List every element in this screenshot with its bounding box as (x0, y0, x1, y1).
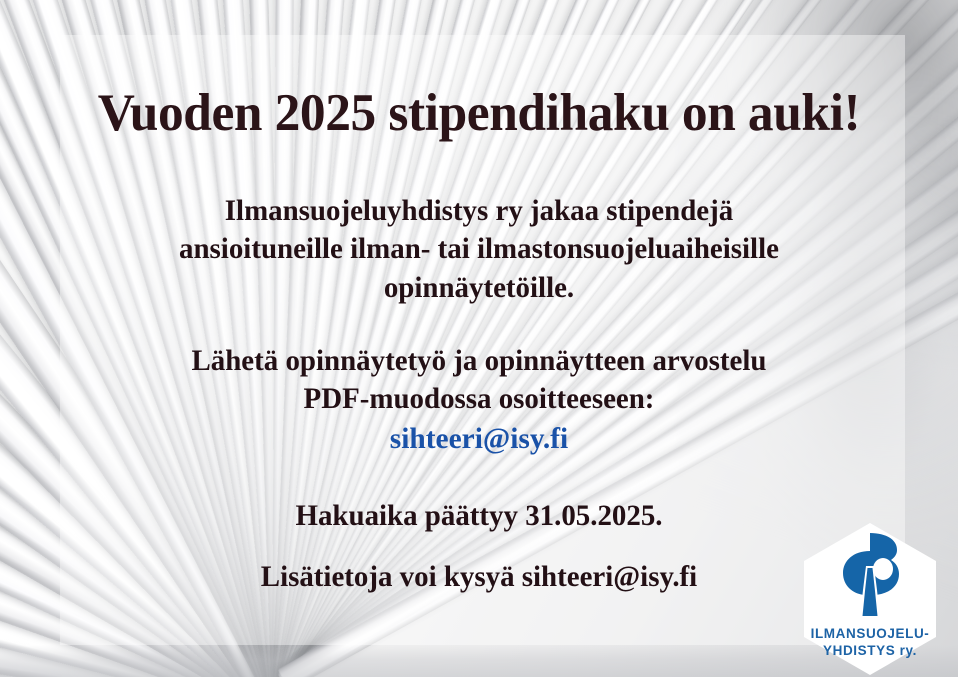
page-title: Vuoden 2025 stipendihaku on auki! (14, 86, 943, 142)
submission-paragraph: Lähetä opinnäytetyö ja opinnäytteen arvo… (10, 342, 949, 458)
submission-email-link[interactable]: sihteeri@isy.fi (10, 419, 949, 458)
logo-text-line-2: YHDISTYS ry. (823, 643, 917, 658)
submission-line-2: PDF-muodossa osoitteeseen: (10, 380, 949, 418)
submission-line-1: Lähetä opinnäytetyö ja opinnäytteen arvo… (10, 342, 949, 380)
ilmansuojeluyhdistys-logo: ILMANSUOJELU- YHDISTYS ry. (800, 521, 940, 677)
intro-line-2: ansioituneille ilman- tai ilmastonsuojel… (10, 230, 949, 268)
intro-line-1: Ilmansuojeluyhdistys ry jakaa stipendejä (10, 192, 949, 230)
intro-line-3: opinnäytetöille. (10, 269, 949, 307)
poster-canvas: Vuoden 2025 stipendihaku on auki! Ilmans… (0, 0, 958, 677)
logo-text-line-1: ILMANSUOJELU- (811, 626, 930, 641)
intro-paragraph: Ilmansuojeluyhdistys ry jakaa stipendejä… (10, 192, 949, 307)
